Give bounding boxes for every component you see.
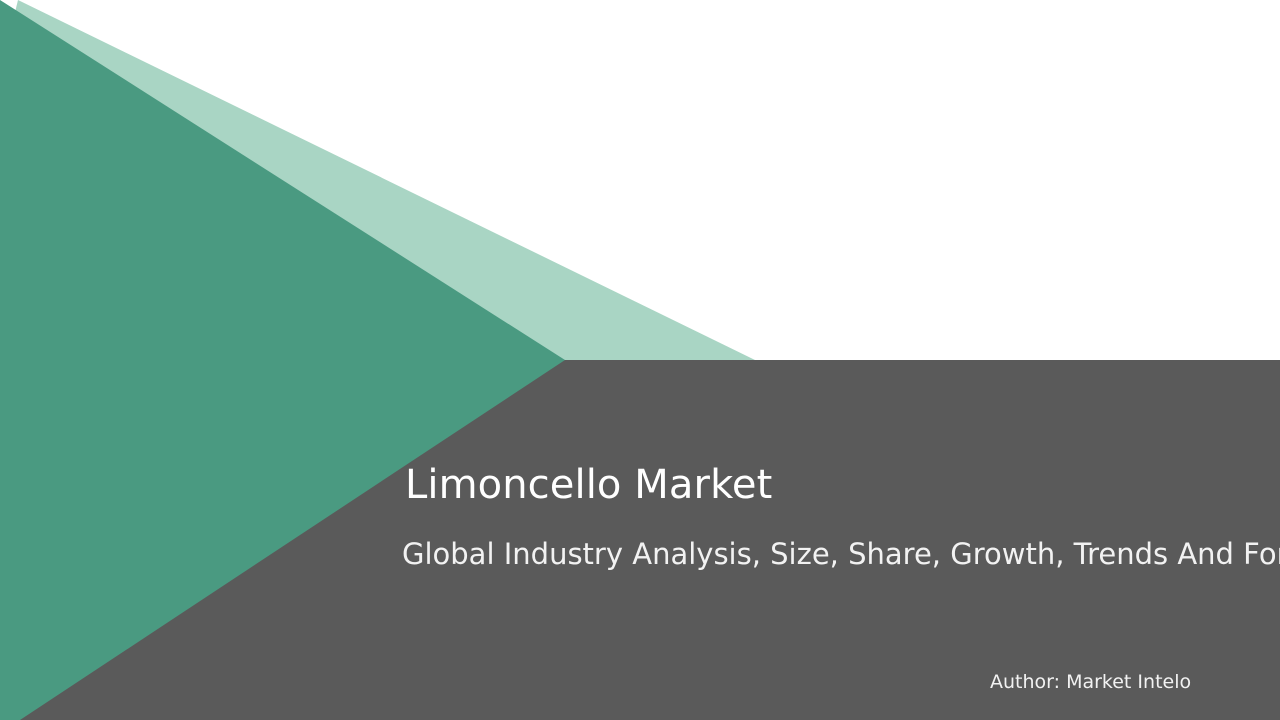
text-layer: Limoncello Market Global Industry Analys… (0, 0, 1280, 720)
page-title: Limoncello Market (405, 463, 772, 508)
page-subtitle: Global Industry Analysis, Size, Share, G… (402, 537, 1280, 572)
author-line: Author: Market Intelo (990, 671, 1191, 694)
report-cover-slide: Limoncello Market Global Industry Analys… (0, 0, 1280, 720)
